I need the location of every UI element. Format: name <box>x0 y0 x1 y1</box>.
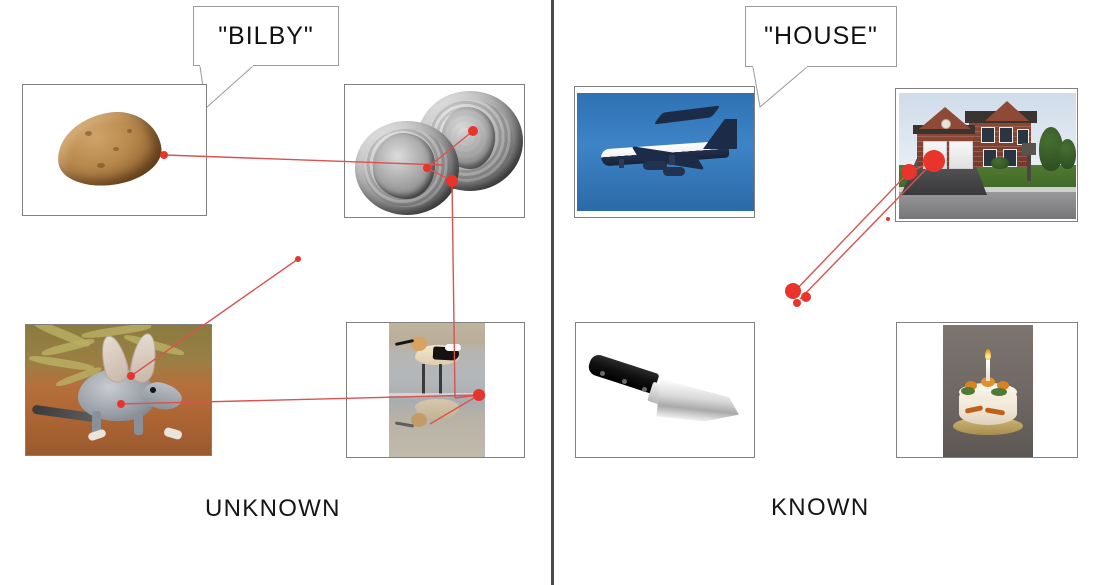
fixation-free-node <box>295 256 301 262</box>
house-window <box>999 127 1013 143</box>
speech-bubble-bilby-tail <box>193 64 323 112</box>
potato-spot <box>85 131 92 136</box>
avocet-photo-frame[interactable] <box>346 322 525 458</box>
knife-photo-frame[interactable] <box>575 322 755 458</box>
gable-round-window <box>941 119 951 129</box>
coin-front-figure <box>373 133 435 199</box>
knife-rivet <box>622 379 627 384</box>
house-photo <box>899 93 1076 219</box>
airplane-photo-frame[interactable] <box>574 86 755 218</box>
plane-gear <box>619 159 624 168</box>
potato-spot <box>127 129 132 133</box>
fixation-mid-path <box>886 217 890 221</box>
candle-flame <box>985 349 991 360</box>
road <box>899 191 1076 219</box>
tree-far-right <box>1059 139 1076 169</box>
panel-divider <box>551 0 554 585</box>
fixation-cluster-small-b <box>801 292 811 302</box>
avocet-leg <box>439 364 442 394</box>
speech-bubble-house-tail <box>745 65 875 111</box>
coins-photo-frame[interactable] <box>344 84 525 218</box>
knife-rivet <box>600 371 605 376</box>
speech-bubble-bilby: "BILBY" <box>193 6 339 66</box>
potato-shape <box>52 106 165 192</box>
cake-photo <box>943 325 1033 457</box>
knife-blade <box>656 379 742 425</box>
knife-photo <box>582 329 750 453</box>
avocet-leg <box>422 364 425 394</box>
fixation-cluster-small-a <box>793 299 801 307</box>
gaze-lines <box>121 131 934 424</box>
knife-handle <box>586 353 659 395</box>
lamp-head <box>1022 143 1036 155</box>
house-window <box>981 127 995 143</box>
house-cluster-link-a <box>794 172 909 292</box>
garage-door-right <box>949 141 973 169</box>
cake-decor-leaf <box>991 388 1007 396</box>
cake-photo-frame[interactable] <box>896 322 1078 458</box>
gaze-dots <box>117 126 945 408</box>
house-gable-right <box>985 101 1029 121</box>
avocet-photo <box>389 323 485 458</box>
house-photo-frame[interactable] <box>895 88 1078 222</box>
cake-decor-leaf <box>961 387 975 395</box>
plane-tailfin <box>703 119 737 149</box>
speech-bubble-house-text: "HOUSE" <box>764 22 878 51</box>
knife-rivet <box>642 387 647 392</box>
fixation-cluster-big <box>785 283 801 299</box>
potato-photo-frame[interactable] <box>22 84 207 216</box>
airplane-photo <box>577 93 754 211</box>
speech-bubble-bilby-text: "BILBY" <box>218 22 314 51</box>
bilby-photo-frame[interactable] <box>25 324 212 456</box>
garage-door-left <box>923 141 947 169</box>
shrub-front <box>991 157 1009 169</box>
avocet-wing-stripe <box>445 344 461 351</box>
plane-engine-outer <box>663 167 685 176</box>
bilby-eye <box>150 387 156 393</box>
birthday-candle <box>986 359 990 381</box>
plane-wing-rear <box>653 105 720 124</box>
lamp-post <box>1027 151 1031 181</box>
caption-unknown: UNKNOWN <box>205 495 341 523</box>
speech-bubble-house: "HOUSE" <box>745 6 897 67</box>
potato-spot <box>113 147 119 151</box>
potato-spot <box>97 163 105 168</box>
water-line <box>389 393 485 396</box>
caption-known: KNOWN <box>771 494 870 522</box>
plane-gear <box>669 155 675 165</box>
bilby-leg-rear <box>134 413 143 435</box>
figure-canvas: "BILBY" <box>0 0 1100 585</box>
